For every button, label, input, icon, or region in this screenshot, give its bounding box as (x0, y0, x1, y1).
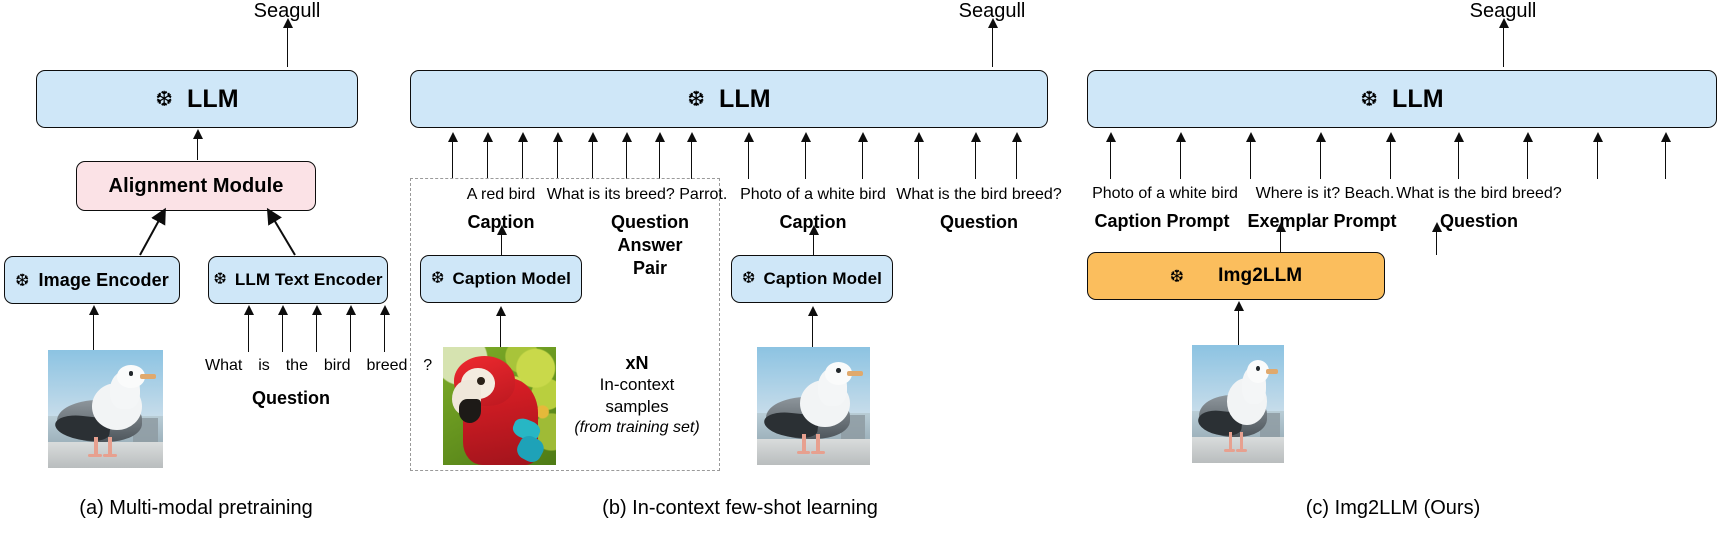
panel-b-llm-arrow-9 (748, 141, 749, 179)
panel-c-llm-arrow-5 (1390, 141, 1391, 179)
panel-b-llm-arrow-10 (805, 141, 806, 179)
panel-b-parrot-photo (443, 347, 556, 465)
panel-b-caption-model-incontext-node[interactable]: ❆ Caption Model (420, 255, 582, 303)
panel-b-llm-arrow-13 (975, 141, 976, 179)
panel-a-token-arrow-2 (282, 314, 283, 352)
panel-c-img2llm-label: Img2LLM (1218, 265, 1302, 287)
panel-b-caption-model-query-label: Caption Model (764, 269, 882, 289)
panel-b-llm-label: LLM (719, 85, 771, 114)
question-token: breed (366, 357, 407, 374)
panel-a-token-arrow-1 (248, 314, 249, 352)
panel-a-encoder-arrows (100, 205, 320, 260)
panel-a-token-arrow-5 (384, 314, 385, 352)
panel-c-prompt-label-1: Caption Prompt (1095, 211, 1230, 232)
panel-c-caption: (c) Img2LLM (Ours) (1306, 497, 1480, 520)
panel-a-question-tokens: What is the bird breed ? (205, 357, 432, 375)
figure-canvas: Seagull ❆ LLM Alignment Module ❆ Image E… (0, 0, 1721, 556)
panel-b-repeat-line-2: samples (605, 397, 668, 417)
panel-b-llm-node[interactable]: ❆ LLM (410, 70, 1048, 128)
panel-a-question-label: Question (252, 388, 330, 409)
panel-c-prompt-label-3: Question (1440, 211, 1518, 232)
panel-c-prompt-text-1: Photo of a white bird (1092, 185, 1238, 203)
panel-c-llm-arrow-4 (1320, 141, 1321, 179)
panel-b-llm-arrow-4 (557, 141, 558, 179)
panel-c-seagull-photo (1192, 345, 1284, 463)
panel-b-repeat-source: (from training set) (574, 419, 699, 437)
panel-c-prompt-text-2: Where is it? Beach. (1256, 185, 1395, 203)
panel-c-prompt-text-3: What is the bird breed? (1396, 185, 1561, 203)
panel-a-llm-text-encoder-label: LLM Text Encoder (235, 270, 383, 290)
panel-a-image-arrow (93, 314, 94, 350)
panel-b-repeat-badge: xN (625, 353, 648, 374)
panel-a-token-arrow-3 (316, 314, 317, 352)
panel-c-img2llm-arrow-right (1436, 231, 1437, 255)
panel-b-query-question-text: What is the bird breed? (896, 186, 1061, 204)
snowflake-icon: ❆ (1170, 268, 1184, 285)
panel-b-llm-arrow-6 (626, 141, 627, 179)
panel-b-seagull-arrow (812, 315, 813, 350)
question-token: is (258, 357, 270, 374)
snowflake-icon: ❆ (213, 272, 227, 288)
panel-b-llm-arrow-8 (691, 141, 692, 179)
panel-a-alignment-module-label: Alignment Module (109, 175, 284, 198)
panel-b-caption-model-incontext-label: Caption Model (453, 269, 571, 289)
panel-c-llm-arrow-3 (1250, 141, 1251, 179)
panel-b-llm-arrow-11 (862, 141, 863, 179)
panel-b-caption-model-query-node[interactable]: ❆ Caption Model (731, 255, 893, 303)
panel-a-alignment-module-node[interactable]: Alignment Module (76, 161, 316, 211)
snowflake-icon: ❆ (155, 89, 173, 110)
panel-b-incontext-qa-label-1: Question (611, 212, 689, 233)
panel-a-llm-text-encoder-node[interactable]: ❆ LLM Text Encoder (208, 256, 388, 304)
panel-b-incontext-caption-text: A red bird (467, 186, 535, 204)
panel-a-llm-node[interactable]: ❆ LLM (36, 70, 358, 128)
snowflake-icon: ❆ (687, 89, 705, 110)
panel-c-img2llm-node[interactable]: ❆ Img2LLM (1087, 252, 1385, 300)
panel-a-image-encoder-node[interactable]: ❆ Image Encoder (4, 256, 180, 304)
panel-b-output-arrow (992, 27, 993, 67)
panel-b-llm-arrow-3 (522, 141, 523, 179)
panel-a-caption: (a) Multi-modal pretraining (79, 497, 312, 520)
panel-b-caption: (b) In-context few-shot learning (602, 497, 878, 520)
panel-a-output-arrow (287, 27, 288, 67)
panel-c-llm-arrow-9 (1665, 141, 1666, 179)
panel-c-output-arrow (1503, 27, 1504, 67)
panel-c-llm-label: LLM (1392, 85, 1444, 114)
panel-b-parrot-arrow (500, 315, 501, 350)
question-token: the (286, 357, 308, 374)
question-token: What (205, 357, 242, 374)
panel-b-incontext-qa-label-3: Pair (633, 258, 667, 279)
panel-b-seagull-photo (757, 347, 870, 465)
panel-b-query-caption-text: Photo of a white bird (740, 186, 886, 204)
snowflake-icon: ❆ (1360, 89, 1378, 110)
panel-c-llm-arrow-2 (1180, 141, 1181, 179)
panel-c-llm-node[interactable]: ❆ LLM (1087, 70, 1717, 128)
snowflake-icon: ❆ (15, 272, 29, 289)
panel-a-seagull-photo (48, 350, 163, 468)
panel-c-seagull-arrow (1238, 310, 1239, 346)
panel-b-llm-arrow-1 (452, 141, 453, 179)
panel-b-repeat-line-1: In-context (600, 375, 675, 395)
panel-c-prompt-label-2: Exemplar Prompt (1247, 211, 1396, 232)
panel-b-llm-arrow-12 (918, 141, 919, 179)
panel-b-llm-arrow-5 (592, 141, 593, 179)
panel-b-llm-arrow-7 (659, 141, 660, 179)
panel-c-llm-arrow-8 (1597, 141, 1598, 179)
panel-b-llm-arrow-2 (487, 141, 488, 179)
snowflake-icon: ❆ (431, 271, 445, 287)
panel-c-llm-arrow-6 (1458, 141, 1459, 179)
question-token: bird (324, 357, 351, 374)
panel-a-llm-label: LLM (187, 85, 239, 114)
panel-a-alignment-to-llm-arrow (197, 138, 198, 160)
panel-b-incontext-qa-text: What is its breed? Parrot. (547, 186, 728, 204)
panel-c-llm-arrow-1 (1110, 141, 1111, 179)
panel-a-token-arrow-4 (350, 314, 351, 352)
panel-b-llm-arrow-14 (1016, 141, 1017, 179)
panel-b-query-question-label: Question (940, 212, 1018, 233)
panel-c-llm-arrow-7 (1527, 141, 1528, 179)
panel-b-incontext-qa-label-2: Answer (617, 235, 682, 256)
snowflake-icon: ❆ (742, 271, 756, 287)
panel-a-image-encoder-label: Image Encoder (39, 270, 169, 291)
